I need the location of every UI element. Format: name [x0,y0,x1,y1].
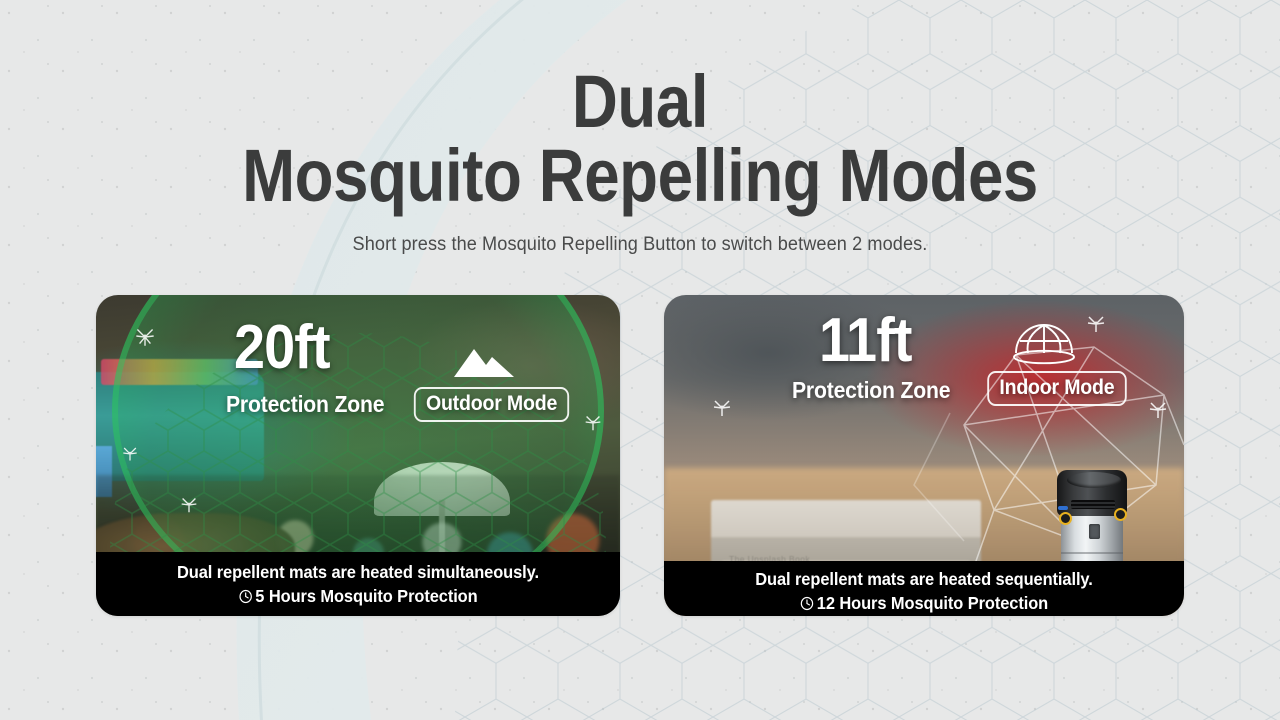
caption-text-indoor: Dual repellent mats are heated sequentia… [689,569,1159,590]
mode-card-outdoor[interactable]: 20ft Protection Zone Outdoor Mode Dual r… [96,295,620,616]
mosquito-icon [1084,311,1108,335]
mode-badge-indoor[interactable]: Indoor Mode [987,371,1126,406]
page-subtitle: Short press the Mosquito Repelling Butto… [45,233,1235,256]
mosquito-icon [710,395,734,419]
caption-duration-indoor: 12 Hours Mosquito Protection [817,593,1048,614]
caption-bar-indoor: Dual repellent mats are heated sequentia… [664,561,1184,616]
range-label-outdoor-wrap: Protection Zone [226,389,402,418]
poster-stage: Dual Mosquito Repelling Modes Short pres… [0,0,1280,720]
clock-icon [800,596,814,611]
caption-duration-row-outdoor: 5 Hours Mosquito Protection [121,586,595,607]
mosquito-icon [1146,397,1170,421]
device-lid [1067,472,1121,488]
caption-bar-outdoor: Dual repellent mats are heated simultane… [96,552,620,616]
clock-icon [238,589,252,604]
device-ring-right [1114,508,1127,521]
mosquito-icon [582,411,604,433]
range-value-outdoor-wrap: 20ft [234,320,340,376]
range-label-indoor: Protection Zone [792,377,950,404]
mosquito-repeller-device [1055,462,1129,574]
page-title-line2: Mosquito Repelling Modes [90,137,1191,215]
range-label-indoor-wrap: Protection Zone [792,375,968,404]
range-value-outdoor: 20ft [234,320,330,376]
device-indicator [1058,506,1068,510]
mosquito-icon [120,443,140,463]
caption-duration-row-indoor: 12 Hours Mosquito Protection [689,593,1159,614]
dome-globe-icon [1008,313,1080,371]
page-title-line1: Dual [90,66,1191,139]
device-window [1089,524,1100,539]
headline-block: Dual Mosquito Repelling Modes Short pres… [0,66,1280,256]
mosquito-icon [132,323,158,349]
mode-badge-indoor-wrap[interactable]: Indoor Mode [982,371,1132,406]
mountain-icon [452,339,516,379]
mode-card-indoor[interactable]: The Unsplash Book The Unsplash Book [664,295,1184,616]
caption-duration-outdoor: 5 Hours Mosquito Protection [255,586,477,607]
range-value-indoor: 11ft [819,313,912,369]
mosquito-icon [178,493,200,515]
mode-badge-outdoor[interactable]: Outdoor Mode [414,387,569,422]
caption-text-outdoor: Dual repellent mats are heated simultane… [121,562,595,583]
range-value-indoor-wrap: 11ft [819,313,922,369]
mode-badge-outdoor-wrap[interactable]: Outdoor Mode [408,387,575,422]
device-vent [1071,500,1115,509]
range-label-outdoor: Protection Zone [226,391,384,418]
